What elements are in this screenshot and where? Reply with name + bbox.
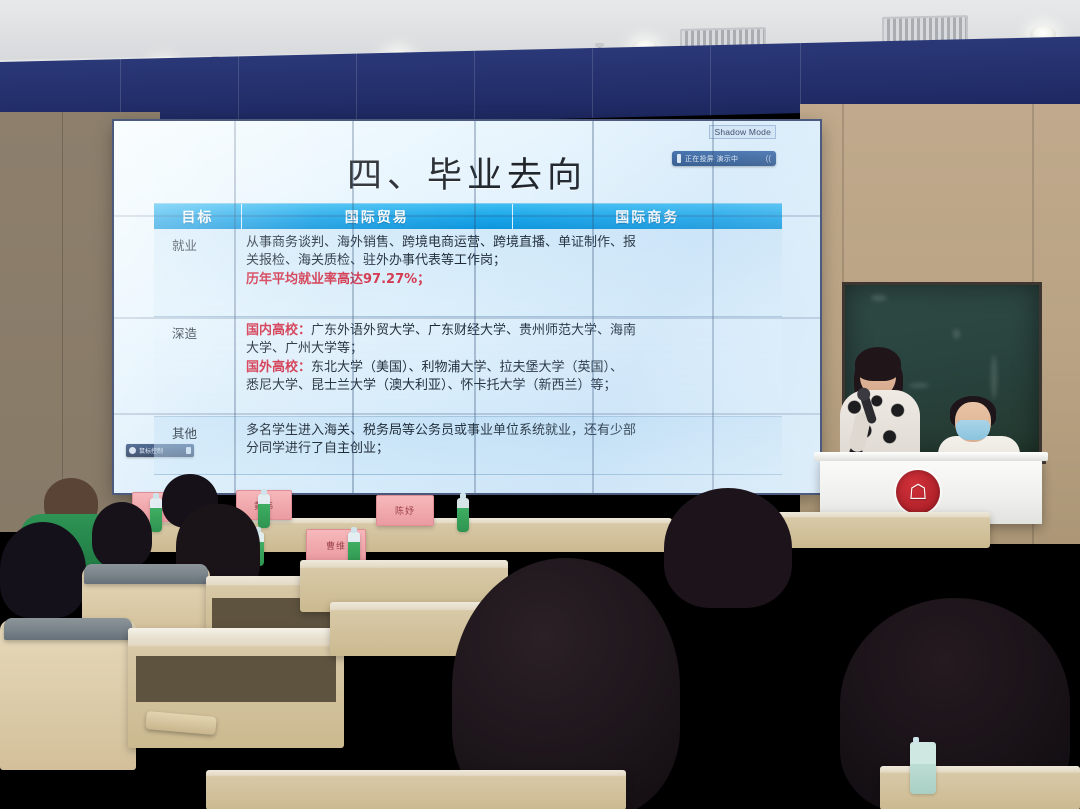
- row-body-employment: 从事商务谈判、海外销售、跨境电商运营、跨境直播、单证制作、报 关报检、海关质检、…: [242, 229, 782, 316]
- table-row: 就业 从事商务谈判、海外销售、跨境电商运营、跨境直播、单证制作、报 关报检、海关…: [154, 229, 782, 317]
- lecture-hall-scene: 四、毕业去向 Shadow Mode 正在投屏 演示中 (( 鼠标控制 目标 国…: [0, 0, 1080, 809]
- row-body-further-study: 国内高校：广东外语外贸大学、广东财经大学、贵州师范大学、海南 大学、广州大学等；…: [242, 317, 782, 416]
- other-line-1: 多名学生进入海关、税务局等公务员或事业单位系统就业，还有少部: [246, 422, 772, 440]
- table-row: 其他 多名学生进入海关、税务局等公务员或事业单位系统就业，还有少部 分同学进行了…: [154, 417, 782, 475]
- video-wall-seam: [114, 317, 820, 319]
- wifi-icon: ((: [766, 154, 771, 163]
- row-label-employment: 就业: [154, 229, 242, 316]
- foreground-student-head-far-right: [664, 488, 792, 608]
- outcomes-table: 目标 国际贸易 国际商务 就业 从事商务谈判、海外销售、跨境电商运营、跨境直播、…: [154, 203, 782, 475]
- video-wall-seam: [114, 413, 820, 415]
- employment-line-2: 关报检、海关质检、驻外办事代表等工作岗；: [246, 252, 772, 270]
- row-label-further-study: 深造: [154, 317, 242, 416]
- video-wall-seam: [592, 121, 594, 493]
- device-icon: [677, 154, 681, 163]
- overseas-line-1: 东北大学（美国）、利物浦大学、拉夫堡大学（英国）、: [311, 360, 623, 375]
- podium-top: [814, 452, 1048, 461]
- water-bottle: [457, 498, 469, 532]
- other-line-2: 分同学进行了自主创业；: [246, 440, 772, 458]
- student-head: [92, 502, 152, 568]
- table-row: 深造 国内高校：广东外语外贸大学、广东财经大学、贵州师范大学、海南 大学、广州大…: [154, 317, 782, 417]
- presenter-hair: [855, 347, 901, 381]
- employment-line-1: 从事商务谈判、海外销售、跨境电商运营、跨境直播、单证制作、报: [246, 234, 772, 252]
- app-icon: [129, 447, 136, 454]
- water-bottle: [150, 498, 162, 532]
- video-wall-seam: [474, 121, 476, 493]
- seat-cushion: [84, 564, 208, 584]
- video-wall-seam: [114, 215, 820, 217]
- row-body-other: 多名学生进入海关、税务局等公务员或事业单位系统就业，还有少部 分同学进行了自主创…: [242, 417, 782, 474]
- face-mask: [956, 420, 990, 440]
- domestic-prefix: 国内高校：: [246, 323, 311, 338]
- video-wall-display[interactable]: 四、毕业去向 Shadow Mode 正在投屏 演示中 (( 鼠标控制 目标 国…: [114, 121, 820, 493]
- shadow-mode-label: Shadow Mode: [709, 125, 776, 139]
- overseas-prefix: 国外高校：: [246, 360, 311, 375]
- employment-rate-highlight: 历年平均就业率高达97.27%；: [246, 271, 772, 289]
- video-wall-seam: [234, 121, 236, 493]
- screen-cast-badge[interactable]: 正在投屏 演示中 ((: [672, 151, 776, 166]
- presentation-slide: 四、毕业去向 Shadow Mode 正在投屏 演示中 (( 鼠标控制 目标 国…: [114, 121, 820, 493]
- presenter-speaker: [838, 352, 922, 464]
- screen-cast-badge-label: 正在投屏 演示中: [685, 154, 762, 164]
- seat-cushion: [4, 618, 132, 640]
- student-head: [0, 522, 86, 618]
- audience-seating-area: 张 黄伟 曹维 陈妤 R*PLC: [0, 470, 1080, 809]
- name-card: 陈妤: [376, 495, 434, 526]
- seat-back: [0, 620, 136, 770]
- water-bottle: [910, 742, 936, 794]
- desk-front-ledge: [206, 770, 626, 809]
- video-wall-seam: [712, 121, 714, 493]
- overseas-universities: 国外高校：东北大学（美国）、利物浦大学、拉夫堡大学（英国）、: [246, 359, 772, 377]
- water-bottle: [258, 494, 270, 528]
- video-wall-seam: [352, 121, 354, 493]
- overseas-line-2: 悉尼大学、昆士兰大学（澳大利亚）、怀卡托大学（新西兰）等；: [246, 377, 772, 395]
- row-label-other: 其他: [154, 417, 242, 474]
- domestic-line-2: 大学、广州大学等；: [246, 340, 772, 358]
- domestic-universities: 国内高校：广东外语外贸大学、广东财经大学、贵州师范大学、海南: [246, 322, 772, 340]
